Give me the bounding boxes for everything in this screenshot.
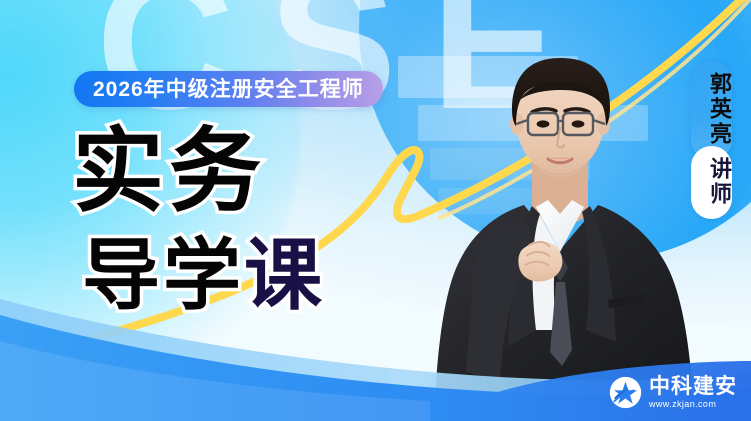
instructor-label: 郭英亮 讲师 bbox=[691, 61, 732, 219]
headline-line-2-accent: 课 bbox=[244, 231, 325, 319]
star-swoosh-icon bbox=[609, 376, 642, 409]
instructor-role: 讲师 bbox=[691, 146, 732, 219]
headline-block: 实务 导学课 bbox=[72, 126, 472, 314]
brand-url: www.zkjan.com bbox=[649, 400, 737, 409]
headline-line-2: 导学课 bbox=[82, 236, 472, 314]
brand-name: 中科建安 bbox=[649, 376, 737, 397]
brand-text: 中科建安 www.zkjan.com bbox=[649, 376, 737, 409]
brand-logo[interactable]: 中科建安 www.zkjan.com bbox=[609, 376, 737, 409]
headline-line-1: 实务 bbox=[72, 126, 472, 218]
course-poster: CSE bbox=[0, 0, 751, 421]
headline-line-2-prefix: 导学 bbox=[82, 231, 244, 319]
badge-label: 2026年中级注册安全工程师 bbox=[93, 79, 364, 100]
course-category-badge[interactable]: 2026年中级注册安全工程师 bbox=[74, 71, 383, 107]
